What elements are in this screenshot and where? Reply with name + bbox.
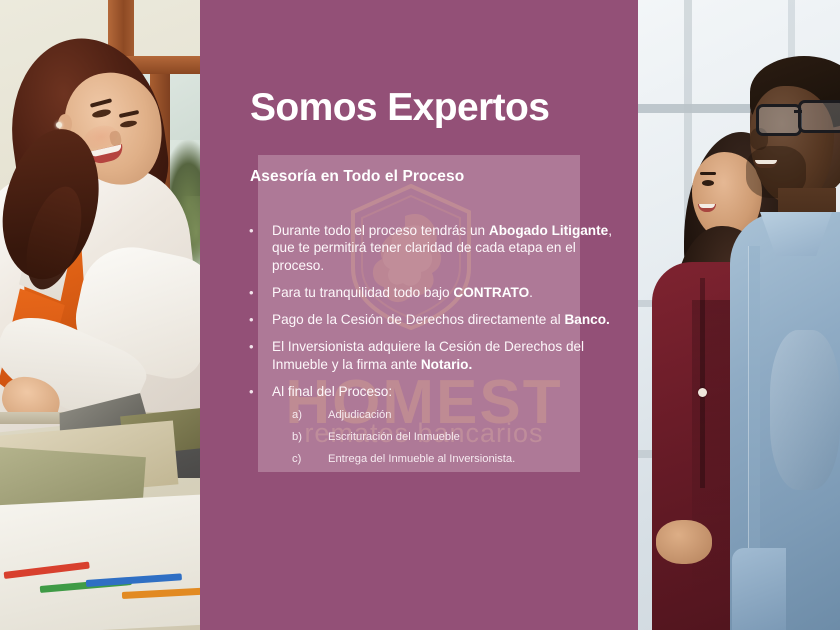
earring	[56, 122, 62, 128]
sub-list-text: Escrituración del Inmueble	[328, 432, 624, 443]
bullet-item: •Al final del Proceso:	[244, 383, 624, 400]
bullet-item: •El Inversionista adquiere la Cesión de …	[244, 338, 624, 373]
sub-list-marker: a)	[292, 410, 328, 421]
bullet-text: Al final del Proceso:	[272, 384, 392, 399]
bullet-item: •Durante todo el proceso tendrás un Abog…	[244, 222, 624, 274]
bullet-text: Para tu tranquilidad todo bajo CONTRATO.	[272, 285, 533, 300]
photo-left	[0, 0, 200, 630]
woman-right-hands	[656, 520, 712, 564]
bullet-marker-icon: •	[249, 339, 254, 356]
man-shirt-cuff	[732, 548, 786, 630]
slide-content: Somos Expertos HOMEST remates bancarios …	[200, 0, 638, 630]
sub-list-item: b)Escrituración del Inmueble	[244, 432, 624, 443]
blouse-placket	[700, 278, 705, 488]
eyeglasses-right-lens	[798, 100, 840, 133]
woman-right-teeth	[699, 204, 715, 208]
bullet-text: Pago de la Cesión de Derechos directamen…	[272, 312, 610, 327]
woman-right-eye	[702, 180, 714, 186]
page-title: Somos Expertos	[250, 88, 630, 129]
sub-list-marker: c)	[292, 454, 328, 465]
bullet-marker-icon: •	[249, 285, 254, 302]
bullet-marker-icon: •	[249, 223, 254, 240]
woman-right-eyebrow	[700, 172, 716, 175]
bullet-marker-icon: •	[249, 384, 254, 401]
bullet-list: •Durante todo el proceso tendrás un Abog…	[244, 222, 624, 477]
sub-list: a)Adjudicaciónb)Escrituración del Inmueb…	[244, 410, 624, 466]
bullet-marker-icon: •	[249, 312, 254, 329]
section-subtitle: Asesoría en Todo el Proceso	[250, 168, 610, 186]
man-teeth	[755, 160, 777, 164]
bullet-item: •Pago de la Cesión de Derechos directame…	[244, 311, 624, 328]
bullet-text: Durante todo el proceso tendrás un Aboga…	[272, 223, 612, 273]
sub-list-text: Adjudicación	[328, 410, 624, 421]
eyeglasses-left-lens	[756, 104, 802, 136]
sub-list-item: c)Entrega del Inmueble al Inversionista.	[244, 454, 624, 465]
blouse-button	[698, 388, 707, 397]
sub-list-marker: b)	[292, 432, 328, 443]
paper-sheets	[0, 494, 200, 630]
sub-list-item: a)Adjudicación	[244, 410, 624, 421]
bullet-item: •Para tu tranquilidad todo bajo CONTRATO…	[244, 284, 624, 301]
eyeglasses-bridge	[794, 110, 802, 113]
presentation-slide: Somos Expertos HOMEST remates bancarios …	[0, 0, 840, 630]
sub-list-text: Entrega del Inmueble al Inversionista.	[328, 454, 624, 465]
bullet-text: El Inversionista adquiere la Cesión de D…	[272, 339, 584, 371]
man-shirt-fold	[770, 330, 840, 490]
photo-right	[638, 0, 840, 630]
